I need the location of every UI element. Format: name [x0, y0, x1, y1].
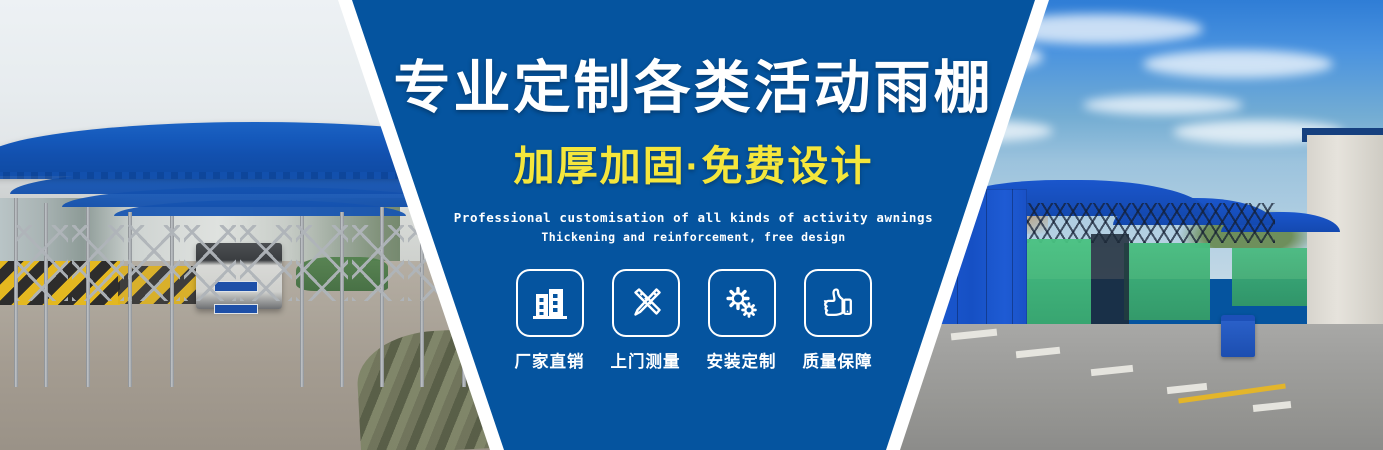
english-tagline-secondary: Thickening and reinforcement, free desig…	[541, 230, 845, 244]
right-photo-green-tarp-2	[1124, 243, 1210, 320]
right-photo-opening	[1091, 234, 1129, 329]
right-photo-green-tarp-3	[1232, 248, 1308, 307]
feature-icon-box	[612, 269, 680, 337]
feature-label: 上门测量	[611, 348, 681, 372]
banner-headline: 专业定制各类活动雨棚	[394, 58, 994, 120]
factory-building-icon	[530, 283, 570, 323]
english-tagline-primary: Professional customisation of all kinds …	[454, 210, 933, 225]
feature-icon-box	[708, 269, 776, 337]
feature-item-quality-guarantee[interactable]: 质量保障	[801, 269, 875, 372]
feature-item-factory-direct-sales[interactable]: 厂家直销	[513, 269, 587, 372]
feature-item-installation-customisation[interactable]: 安装定制	[705, 269, 779, 372]
feature-list: 厂家直销	[513, 269, 875, 372]
feature-icon-box	[804, 269, 872, 337]
banner-subheadline: 加厚加固·免费设计	[514, 132, 874, 192]
promotional-banner: 专业定制各类活动雨棚 加厚加固·免费设计 Professional custom…	[0, 0, 1383, 450]
right-photo-trash-bin	[1221, 315, 1255, 357]
feature-label: 质量保障	[803, 348, 873, 372]
feature-label: 安装定制	[707, 348, 777, 372]
feature-label: 厂家直销	[515, 348, 585, 372]
feature-item-onsite-measurement[interactable]: 上门测量	[609, 269, 683, 372]
gears-icon	[722, 283, 762, 323]
thumbs-up-icon	[818, 283, 858, 323]
feature-icon-box	[516, 269, 584, 337]
banner-content: 专业定制各类活动雨棚 加厚加固·免费设计 Professional custom…	[345, 0, 1042, 450]
left-photo-truck-plate-2	[214, 304, 258, 314]
pencil-ruler-icon	[626, 283, 666, 323]
